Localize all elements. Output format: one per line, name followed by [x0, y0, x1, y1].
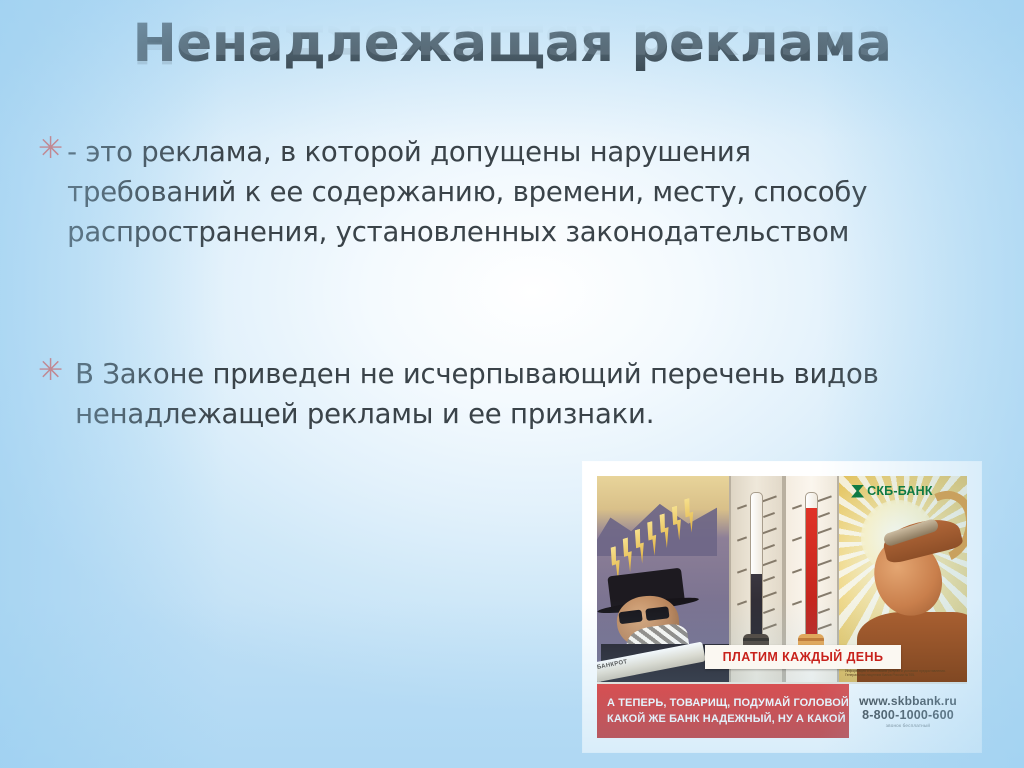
poster-footer: А ТЕПЕРЬ, ТОВАРИЩ, ПОДУМАЙ ГОЛОВОЙ: КАКО… — [597, 684, 967, 738]
poster-slogan-bar: А ТЕПЕРЬ, ТОВАРИЩ, ПОДУМАЙ ГОЛОВОЙ: КАКО… — [597, 684, 849, 738]
slide-title-area: Ненадлежащая реклама Ненадлежащая реклам… — [0, 16, 1024, 126]
bullet-item-1: ✳ - это реклама, в которой допущены нару… — [38, 132, 923, 252]
thermometer-tube-hot — [805, 492, 818, 644]
thermometer-level-cold — [751, 574, 762, 643]
poster-contact-box: www.skbbank.ru 8-800-1000-600 звонок бес… — [849, 684, 967, 738]
asterisk-bullet-icon: ✳ — [38, 356, 63, 386]
poster-slogan-line-2: КАКОЙ ЖЕ БАНК НАДЕЖНЫЙ, НУ А КАКОЙ - ПЛО… — [607, 711, 849, 727]
poster-website: www.skbbank.ru — [859, 694, 957, 708]
advertisement-poster-image: БАНКРОТ — [583, 462, 981, 752]
bank-logo-mark-icon — [851, 485, 864, 498]
bullet-text-1: - это реклама, в которой допущены наруше… — [67, 132, 923, 252]
poster-phone-note: звонок бесплатный — [886, 723, 930, 728]
poster-content: БАНКРОТ — [597, 476, 967, 738]
slide-canvas: Ненадлежащая реклама Ненадлежащая реклам… — [0, 0, 1024, 768]
pay-every-day-text: ПЛАТИМ КАЖДЫЙ ДЕНЬ — [723, 650, 884, 664]
poster-slogan-line-1: А ТЕПЕРЬ, ТОВАРИЩ, ПОДУМАЙ ГОЛОВОЙ: — [607, 695, 849, 711]
bankrupt-scroll-label: БАНКРОТ — [597, 659, 628, 671]
asterisk-bullet-icon: ✳ — [38, 134, 63, 164]
page-title-reflection: Ненадлежащая реклама — [0, 16, 1024, 71]
thermometer-tube-cold — [750, 492, 763, 644]
bank-logo-text: СКБ-БАНК — [867, 484, 933, 498]
poster-phone: 8-800-1000-600 — [862, 708, 954, 722]
pay-every-day-banner: ПЛАТИМ КАЖДЫЙ ДЕНЬ — [705, 645, 901, 669]
thermometer-level-hot — [806, 508, 817, 643]
bullet-text-2: В Законе приведен не исчерпывающий переч… — [67, 354, 923, 434]
skb-bank-logo: СКБ-БАНК — [851, 484, 933, 498]
poster-fine-print: Информация о банковских услугах и услови… — [845, 669, 957, 678]
bullet-item-2: ✳ В Законе приведен не исчерпывающий пер… — [38, 354, 923, 434]
